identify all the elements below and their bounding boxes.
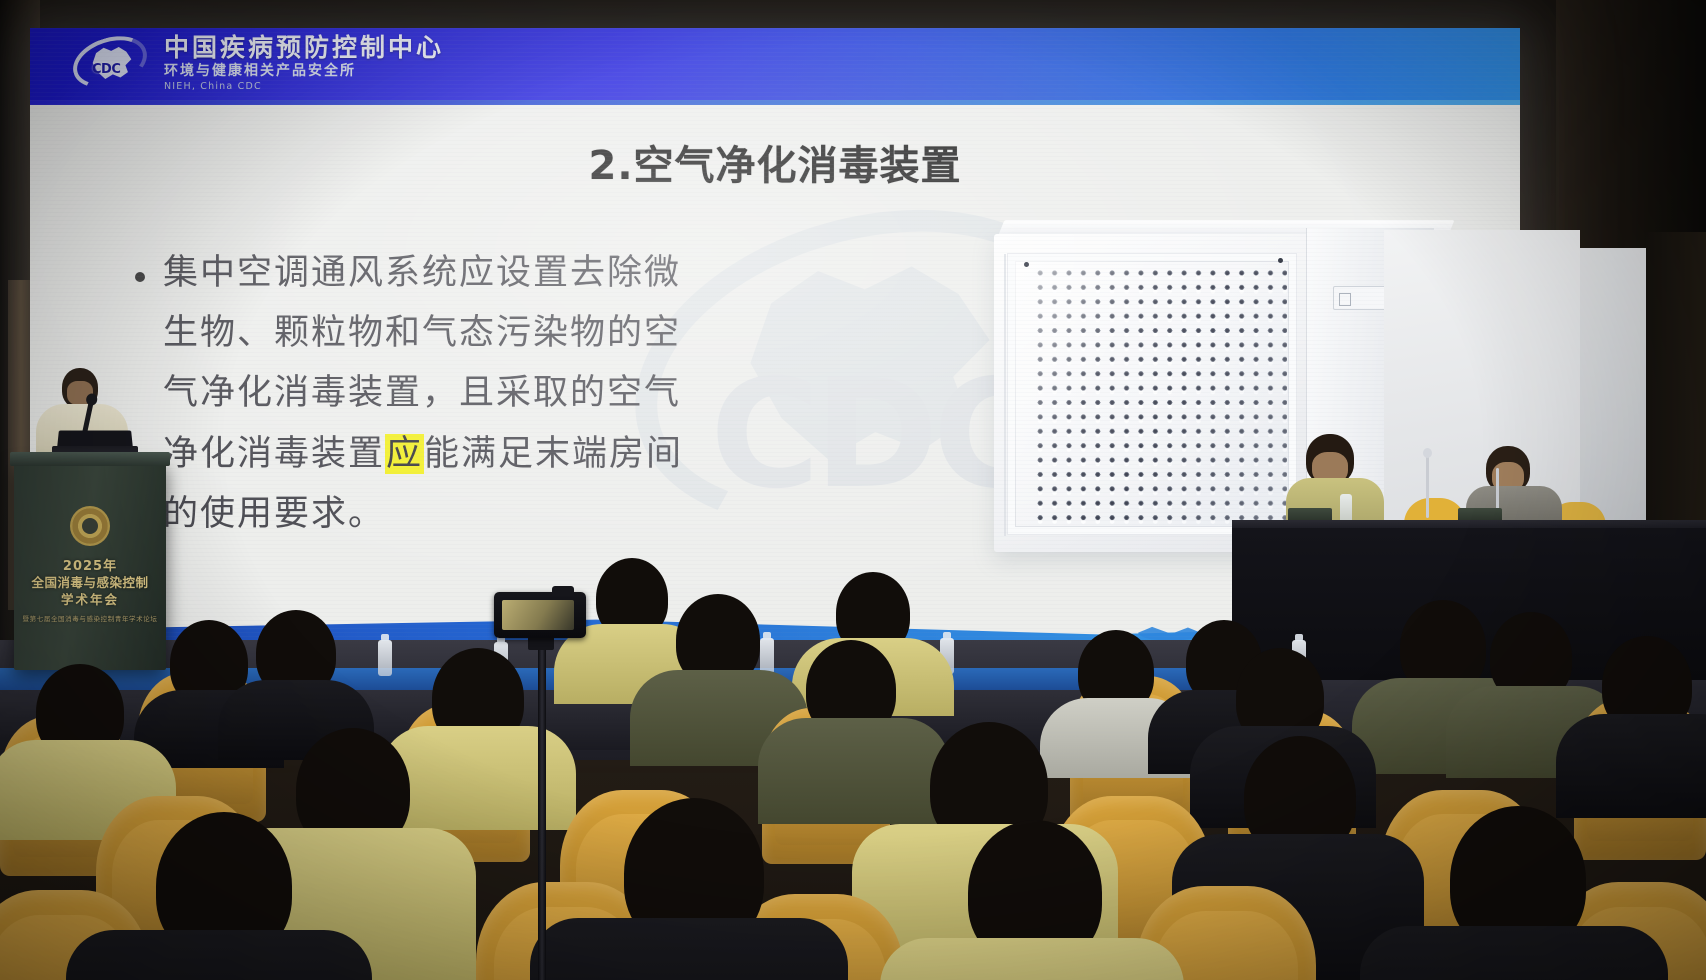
device-seam	[1004, 254, 1006, 536]
head-table-microphone-1-icon	[1426, 456, 1429, 518]
bullet-marker-icon	[135, 272, 145, 282]
conference-hall-scene: CDC CDC 中国疾病预防控制中心 环境与健康相关产品安全所 NIEH, Ch…	[0, 0, 1706, 980]
org-name-cn: 中国疾病预防控制中心	[164, 35, 444, 61]
audience-body	[530, 918, 848, 980]
slide-header-rule	[30, 100, 1520, 105]
slide-bullet-block: 集中空调通风系统应设置去除微 生物、颗粒物和气态污染物的空 气净化消毒装置，且采…	[135, 243, 815, 544]
device-screw-left-icon	[1024, 262, 1029, 267]
body-line-1: 集中空调通风系统应设置去除微	[163, 243, 683, 303]
dept-name-cn: 环境与健康相关产品安全所	[164, 63, 444, 81]
body-line-2: 生物、颗粒物和气态污染物的空	[163, 303, 683, 363]
slide-body-text: 集中空调通风系统应设置去除微 生物、颗粒物和气态污染物的空 气净化消毒装置，且采…	[163, 243, 683, 544]
audience-area	[0, 600, 1706, 980]
body-line-4-post: 能满足末端房间	[424, 434, 683, 474]
device-screw-right-icon	[1278, 258, 1283, 263]
smartphone-camera-bump-icon	[552, 586, 574, 596]
audience-body	[1360, 926, 1668, 980]
body-line-3: 气净化消毒装置，且采取的空气	[163, 363, 683, 423]
slide-header-content: CDC 中国疾病预防控制中心 环境与健康相关产品安全所 NIEH, China …	[70, 32, 444, 94]
audience-body	[380, 726, 576, 830]
device-grille-frame	[1008, 254, 1296, 534]
tripod-pole	[538, 640, 546, 980]
smartphone-screen	[502, 600, 574, 630]
slide-title: 2.空气净化消毒装置	[30, 133, 1520, 191]
logo-cdc-text: CDC	[92, 62, 120, 77]
slide-header-text: 中国疾病预防控制中心 环境与健康相关产品安全所 NIEH, China CDC	[164, 33, 444, 93]
audience-body	[880, 938, 1184, 980]
stage-panel-white-2	[1580, 248, 1646, 530]
device-perforated-grille	[1033, 267, 1287, 525]
podium-line-2: 全国消毒与感染控制	[14, 575, 166, 592]
podium-line-1: 2025年	[14, 558, 166, 575]
audience-body	[66, 930, 372, 980]
highlighted-character: 应	[385, 434, 424, 474]
audience-body	[758, 718, 950, 824]
body-line-5: 的使用要求。	[163, 484, 683, 544]
china-cdc-logo-icon: CDC	[70, 32, 150, 94]
stage-panel-white	[1384, 230, 1580, 530]
stage-dark-column	[1646, 232, 1706, 532]
phone-tripod-mount	[528, 636, 554, 650]
audience-body	[1556, 714, 1706, 818]
org-name-en: NIEH, China CDC	[164, 81, 444, 93]
body-line-4-pre: 净化消毒装置	[163, 434, 385, 474]
conference-emblem-icon	[70, 506, 110, 546]
body-line-4: 净化消毒装置应能满足末端房间	[163, 424, 683, 484]
podium-top-surface	[10, 452, 170, 466]
